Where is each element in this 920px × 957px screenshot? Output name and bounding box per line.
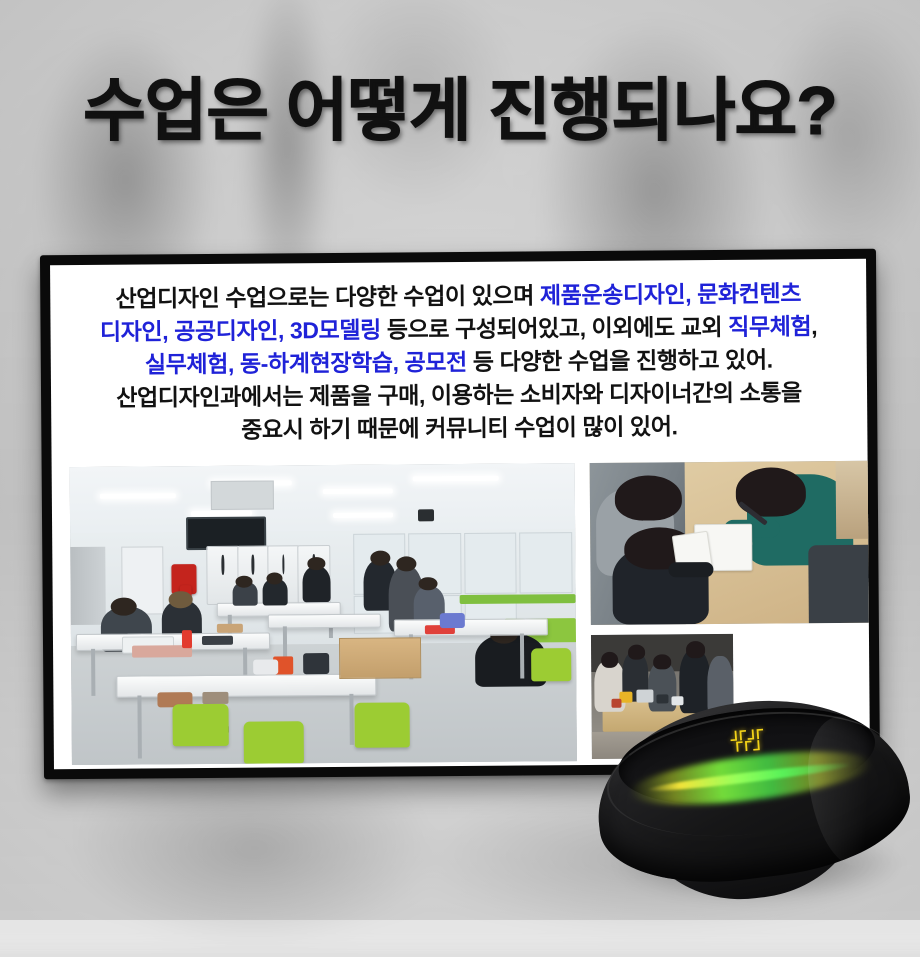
body-copy-run-5-1: 중요시 하기 때문에 커뮤니티 수업이 많이 있어. — [241, 413, 678, 442]
body-copy-run-1-2: 제품운송디자인, 문화컨텐츠 — [540, 280, 801, 308]
body-copy-run-4-1: 산업디자인과에서는 제품을 구매, 이용하는 소비자와 디자이너간의 소통을 — [116, 379, 802, 410]
slide-card: 산업디자인 수업으로는 다양한 수업이 있으며 제품운송디자인, 문화컨텐츠디자… — [40, 249, 880, 780]
body-copy: 산업디자인 수업으로는 다양한 수업이 있으며 제품운송디자인, 문화컨텐츠디자… — [50, 259, 867, 448]
photo-collage — [52, 455, 870, 763]
body-copy-run-2-2: 등으로 구성되어있고, 이외에도 교외 — [381, 314, 729, 343]
body-copy-line-4: 산업디자인과에서는 제품을 구매, 이용하는 소비자와 디자이너간의 소통을 — [77, 376, 841, 415]
page-title: 수업은 어떻게 진행되나요? — [0, 72, 920, 150]
body-copy-run-2-1: 디자인, 공공디자인, 3D모델링 — [100, 317, 381, 345]
body-copy-line-5: 중요시 하기 때문에 커뮤니티 수업이 많이 있어. — [77, 409, 841, 448]
slide-card-inner: 산업디자인 수업으로는 다양한 수업이 있으며 제품운송디자인, 문화컨텐츠디자… — [50, 259, 870, 769]
photo-students-reviewing-document — [590, 461, 870, 625]
body-copy-run-3-2: 등 다양한 수업을 진행하고 있어. — [467, 347, 773, 375]
body-copy-run-2-3: 직무체험 — [728, 313, 811, 340]
photo-classroom-workshop — [70, 463, 577, 765]
body-copy-run-3-1: 실무체험, 동-하계현장학습, 공모전 — [145, 349, 467, 378]
body-copy-run-2-4: , — [811, 313, 817, 339]
body-copy-run-1-1: 산업디자인 수업으로는 다양한 수업이 있으며 — [115, 282, 540, 311]
photo-group-project-table — [591, 634, 734, 759]
